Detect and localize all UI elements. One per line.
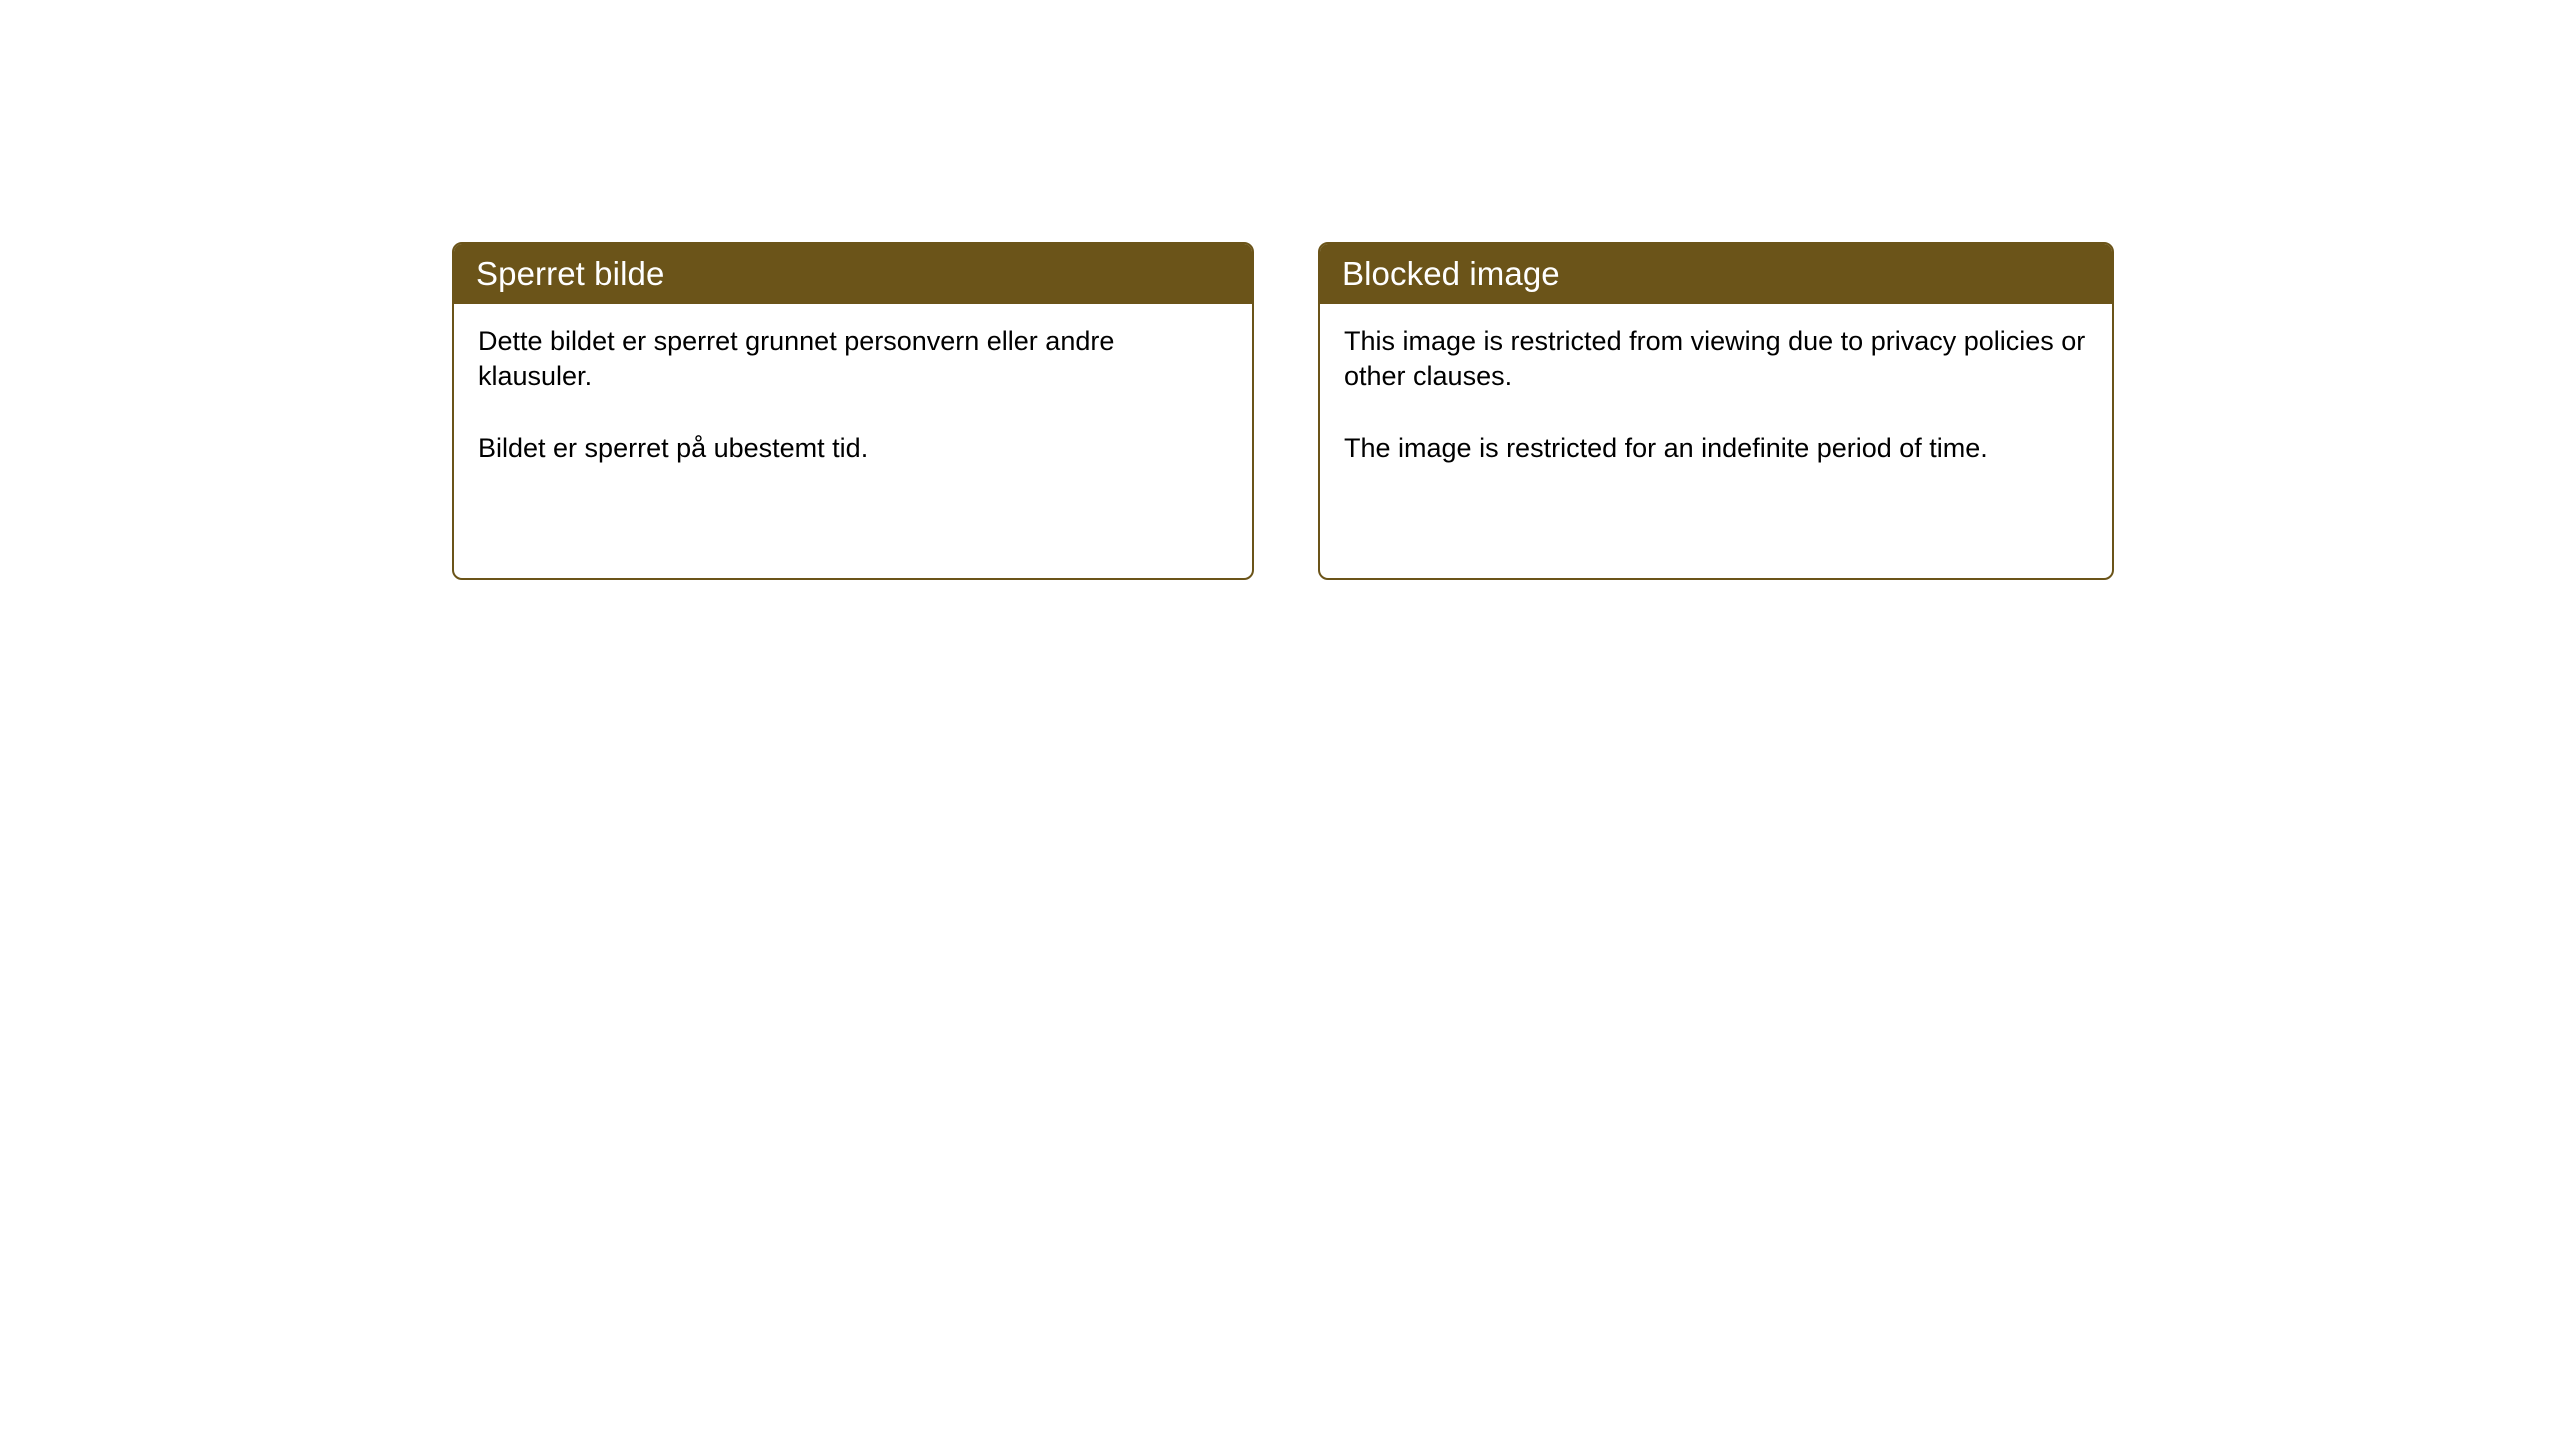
blocked-image-card-english: Blocked image This image is restricted f…	[1318, 242, 2114, 580]
card-header-english: Blocked image	[1318, 242, 2114, 304]
card-body-norwegian: Dette bildet er sperret grunnet personve…	[454, 304, 1252, 466]
card-title-norwegian: Sperret bilde	[476, 257, 664, 290]
card-body-english: This image is restricted from viewing du…	[1320, 304, 2112, 466]
card-paragraph-reason-norwegian: Dette bildet er sperret grunnet personve…	[478, 324, 1226, 393]
page-canvas: Sperret bilde Dette bildet er sperret gr…	[0, 0, 2560, 1440]
card-paragraph-reason-english: This image is restricted from viewing du…	[1344, 324, 2086, 393]
card-header-norwegian: Sperret bilde	[452, 242, 1254, 304]
card-paragraph-duration-english: The image is restricted for an indefinit…	[1344, 431, 2086, 466]
blocked-image-card-norwegian: Sperret bilde Dette bildet er sperret gr…	[452, 242, 1254, 580]
card-paragraph-duration-norwegian: Bildet er sperret på ubestemt tid.	[478, 431, 1226, 466]
card-title-english: Blocked image	[1342, 257, 1560, 290]
